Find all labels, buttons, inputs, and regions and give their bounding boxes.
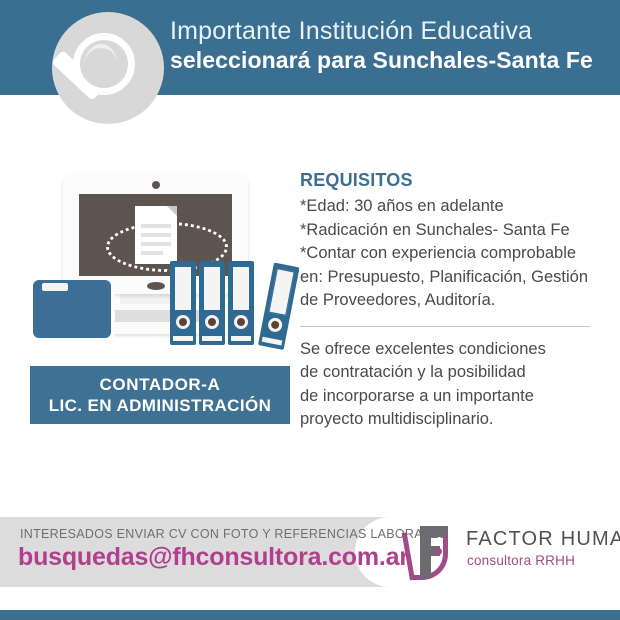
monitor-button [147,282,165,290]
requirement-item: en: Presupuesto, Planificación, Gestión [300,266,592,290]
binder-label [268,268,294,316]
company-logo: FACTOR HUMANO consultora RRHH [408,522,608,584]
ring-binder-icon [228,261,254,345]
job-title-line-2: LIC. EN ADMINISTRACIÓN [49,395,272,416]
ring-binder-icon [199,261,225,345]
offer-line: Se ofrece excelentes condiciones [300,338,592,362]
logo-tagline: consultora RRHH [467,553,575,568]
logo-company-name: FACTOR HUMANO [466,528,620,551]
office-illustration [25,168,295,353]
magnifier-icon [44,8,172,136]
requirement-item: *Radicación en Sunchales- Santa Fe [300,219,592,243]
binder-ring-hole [234,315,248,329]
header-text-block: Importante Institución Educativa selecci… [170,16,600,75]
folder-front [33,280,111,338]
document-icon [135,206,177,264]
requirements-heading: REQUISITOS [300,170,592,191]
job-title-line-1: CONTADOR-A [100,374,221,395]
monogram-dot [435,548,442,555]
binder-base-stripe [231,336,251,341]
bottom-accent-strip [0,610,620,620]
folder-tab [42,283,68,291]
header-line-1: Importante Institución Educativa [170,16,600,46]
footer-instruction: INTERESADOS ENVIAR CV CON FOTO Y REFEREN… [20,527,447,541]
monitor-camera [152,181,160,189]
offer-line: de contratación y la posibilidad [300,361,592,385]
offer-line: de incorporarse a un importante [300,385,592,409]
requirement-item: de Proveedores, Auditoría. [300,289,592,313]
document-text-line [141,251,163,255]
binder-ring-hole [176,315,190,329]
binder-base-stripe [262,337,283,346]
fh-monogram-icon [408,524,456,580]
file-folder-icon [33,280,115,342]
document-text-line [141,233,171,237]
header-line-2: seleccionará para Sunchales-Santa Fe [170,46,600,75]
document-text-line [141,224,171,228]
monogram-f-top-bar [420,526,448,537]
ring-binders-group [170,261,295,353]
binder-ring-hole [205,315,219,329]
binder-label [232,266,250,311]
offer-line: proyecto multidisciplinario. [300,408,592,432]
binder-label [174,266,192,311]
document-text-line [141,242,171,246]
job-title-banner: CONTADOR-A LIC. EN ADMINISTRACIÓN [30,366,290,424]
ring-binder-icon [258,263,300,350]
binder-base-stripe [173,336,193,341]
document-fold-corner [167,206,177,216]
requirement-item: *Contar con experiencia comprobable [300,242,592,266]
content-column: REQUISITOS *Edad: 30 años en adelante *R… [300,170,592,432]
binder-ring-hole [267,317,283,333]
binder-label [203,266,221,311]
section-divider [300,326,590,327]
binder-base-stripe [202,336,222,341]
requirement-item: *Edad: 30 años en adelante [300,195,592,219]
ring-binder-icon [170,261,196,345]
job-posting-poster: Importante Institución Educativa selecci… [0,0,620,620]
header-banner: Importante Institución Educativa selecci… [0,0,620,95]
contact-email[interactable]: busquedas@fhconsultora.com.ar [18,543,409,572]
